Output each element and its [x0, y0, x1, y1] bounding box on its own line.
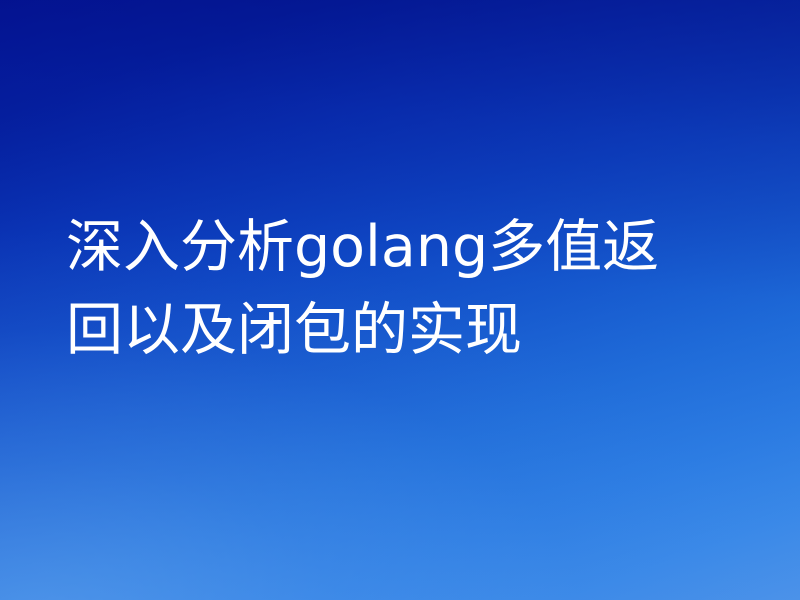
- page-title: 深入分析golang多值返回以及闭包的实现: [66, 206, 706, 372]
- article-cover-banner: 深入分析golang多值返回以及闭包的实现: [0, 0, 800, 600]
- cover-title-block: 深入分析golang多值返回以及闭包的实现: [66, 206, 706, 372]
